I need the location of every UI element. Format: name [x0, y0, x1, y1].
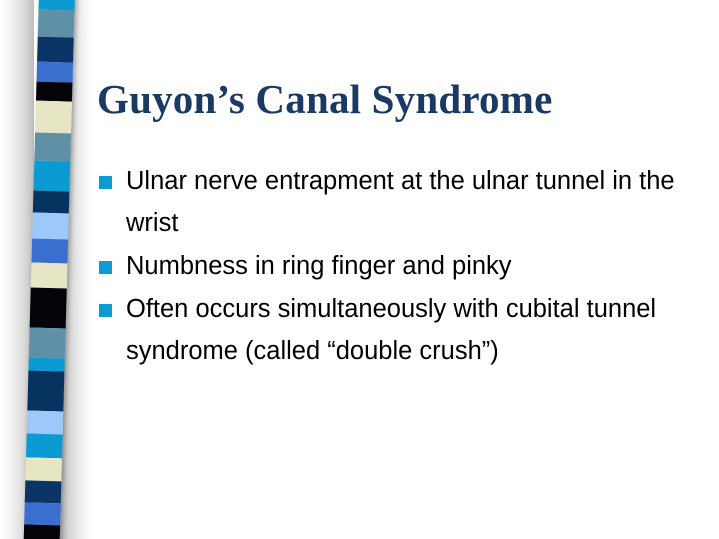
square-bullet-icon	[99, 176, 112, 189]
square-bullet-icon	[99, 261, 112, 274]
bullet-list: Ulnar nerve entrapment at the ulnar tunn…	[97, 160, 705, 373]
list-item: Numbness in ring finger and pinky	[97, 245, 705, 287]
left-stripe-band	[0, 0, 92, 539]
stripe-segment	[23, 524, 60, 539]
slide-canvas: Guyon’s Canal Syndrome Ulnar nerve entra…	[0, 0, 719, 539]
stripe-segment	[31, 263, 68, 289]
list-item: Often occurs simultaneously with cubital…	[97, 288, 705, 372]
stripe-segment	[27, 410, 64, 434]
stripe-segment	[25, 457, 62, 481]
list-item-label: Numbness in ring finger and pinky	[126, 252, 512, 280]
stripe-segment	[30, 287, 67, 328]
square-bullet-icon	[99, 304, 112, 317]
stripe-segment	[24, 502, 61, 525]
stripe-segment	[25, 480, 62, 503]
stripe-segment	[35, 101, 72, 134]
stripe-segment	[38, 10, 75, 38]
stripe-segment	[34, 133, 71, 162]
stripe-segment	[33, 161, 70, 192]
stripe-segment	[37, 37, 74, 63]
stripe-segment	[31, 239, 68, 264]
stripe-segment	[29, 327, 66, 358]
stripe-segment	[33, 191, 70, 214]
list-item-label: Often occurs simultaneously with cubital…	[126, 295, 656, 365]
stripe-segment	[37, 62, 74, 83]
stripe-segment	[28, 357, 64, 371]
page-title: Guyon’s Canal Syndrome	[97, 75, 697, 123]
stripe-segment	[26, 433, 63, 458]
list-item: Ulnar nerve entrapment at the ulnar tunn…	[97, 160, 705, 244]
stripe-segment	[32, 213, 69, 240]
stripe-segment	[36, 82, 73, 102]
stripe-segment	[27, 370, 64, 411]
list-item-label: Ulnar nerve entrapment at the ulnar tunn…	[126, 167, 675, 237]
